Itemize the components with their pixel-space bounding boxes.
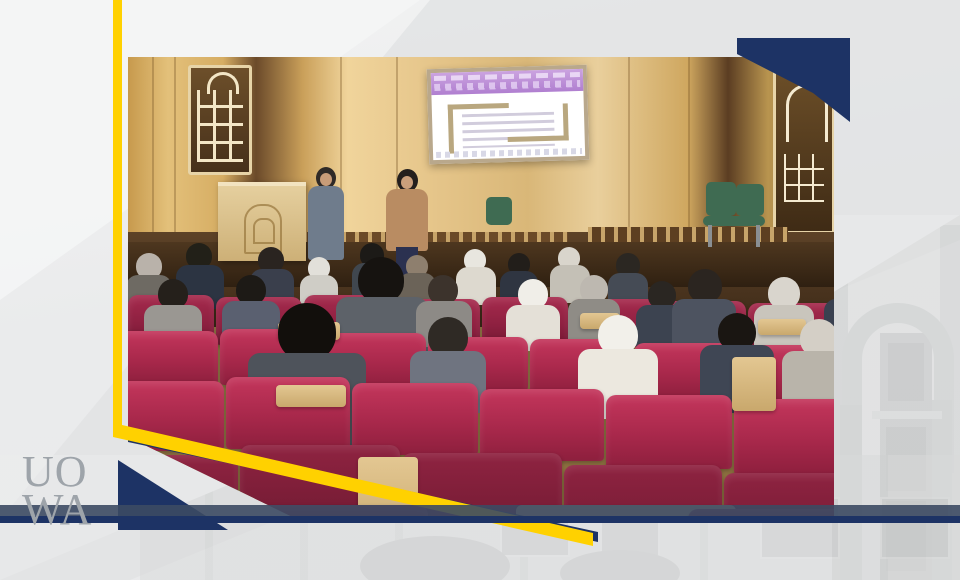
event-banner-poster: UO WA	[0, 0, 960, 580]
presentation-slide	[440, 95, 577, 148]
presenter-left	[306, 167, 346, 257]
navy-bottom-bar	[0, 516, 960, 523]
podium-emblem	[244, 204, 282, 254]
yellow-vertical-rule	[113, 0, 122, 436]
presentation-ribbon	[431, 69, 584, 95]
calligraphy-panel-left	[188, 65, 252, 175]
uowa-logo: UO WA	[22, 452, 114, 534]
logo-line-2: WA	[22, 490, 114, 530]
projector-screen	[427, 65, 590, 164]
